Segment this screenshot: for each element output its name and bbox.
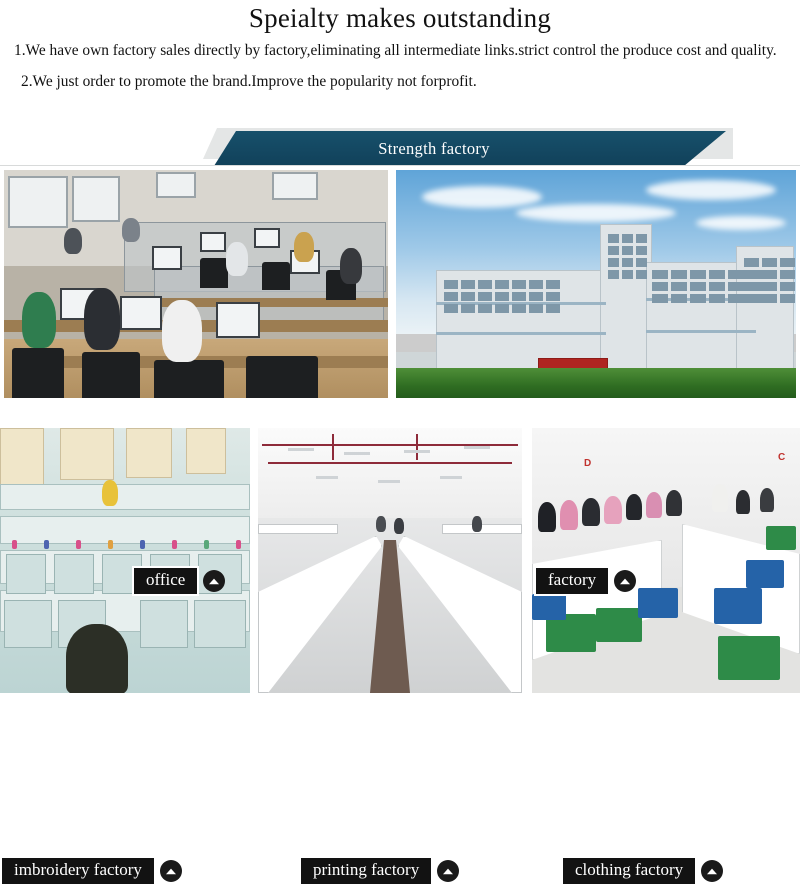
strength-factory-banner: Strength factory [0,126,800,166]
gallery-tile-factory[interactable] [396,170,796,398]
chevron-up-icon[interactable] [614,570,636,592]
printing-photo [258,428,522,693]
caption-embroidery[interactable]: imbroidery factory [0,856,182,886]
caption-office[interactable]: office [132,566,225,596]
office-photo [4,170,388,398]
gallery-tile-printing[interactable] [258,428,522,693]
caption-embroidery-label: imbroidery factory [0,856,156,886]
caption-factory-label: factory [534,566,610,596]
gallery-row-bottom: D C [0,428,800,718]
caption-clothing[interactable]: clothing factory [561,856,723,886]
caption-printing[interactable]: printing factory [299,856,459,886]
caption-factory[interactable]: factory [534,566,636,596]
caption-clothing-label: clothing factory [561,856,697,886]
header-bullet-2: 2.We just order to promote the brand.Imp… [0,71,800,92]
page-root: Speialty makes outstanding 1.We have own… [0,0,800,734]
page-title: Speialty makes outstanding [0,2,800,34]
chevron-up-icon[interactable] [160,860,182,882]
clothing-photo: D C [532,428,800,693]
chevron-up-icon[interactable] [437,860,459,882]
chevron-up-icon[interactable] [701,860,723,882]
gallery-tile-office[interactable] [4,170,388,398]
banner-label: Strength factory [214,131,654,166]
gallery-tile-embroidery[interactable] [0,428,250,693]
header-bullet-list: 1.We have own factory sales directly by … [0,40,800,92]
banner-shape: Strength factory [214,131,726,166]
gallery-tile-clothing[interactable]: D C [532,428,800,693]
caption-office-label: office [132,566,199,596]
header-section: Speialty makes outstanding 1.We have own… [0,0,800,126]
gallery-row-top [0,170,800,422]
factory-gallery: office factory [0,165,800,734]
header-bullet-1: 1.We have own factory sales directly by … [0,40,800,61]
embroidery-photo [0,428,250,693]
chevron-up-icon[interactable] [203,570,225,592]
factory-photo [396,170,796,398]
caption-printing-label: printing factory [299,856,433,886]
